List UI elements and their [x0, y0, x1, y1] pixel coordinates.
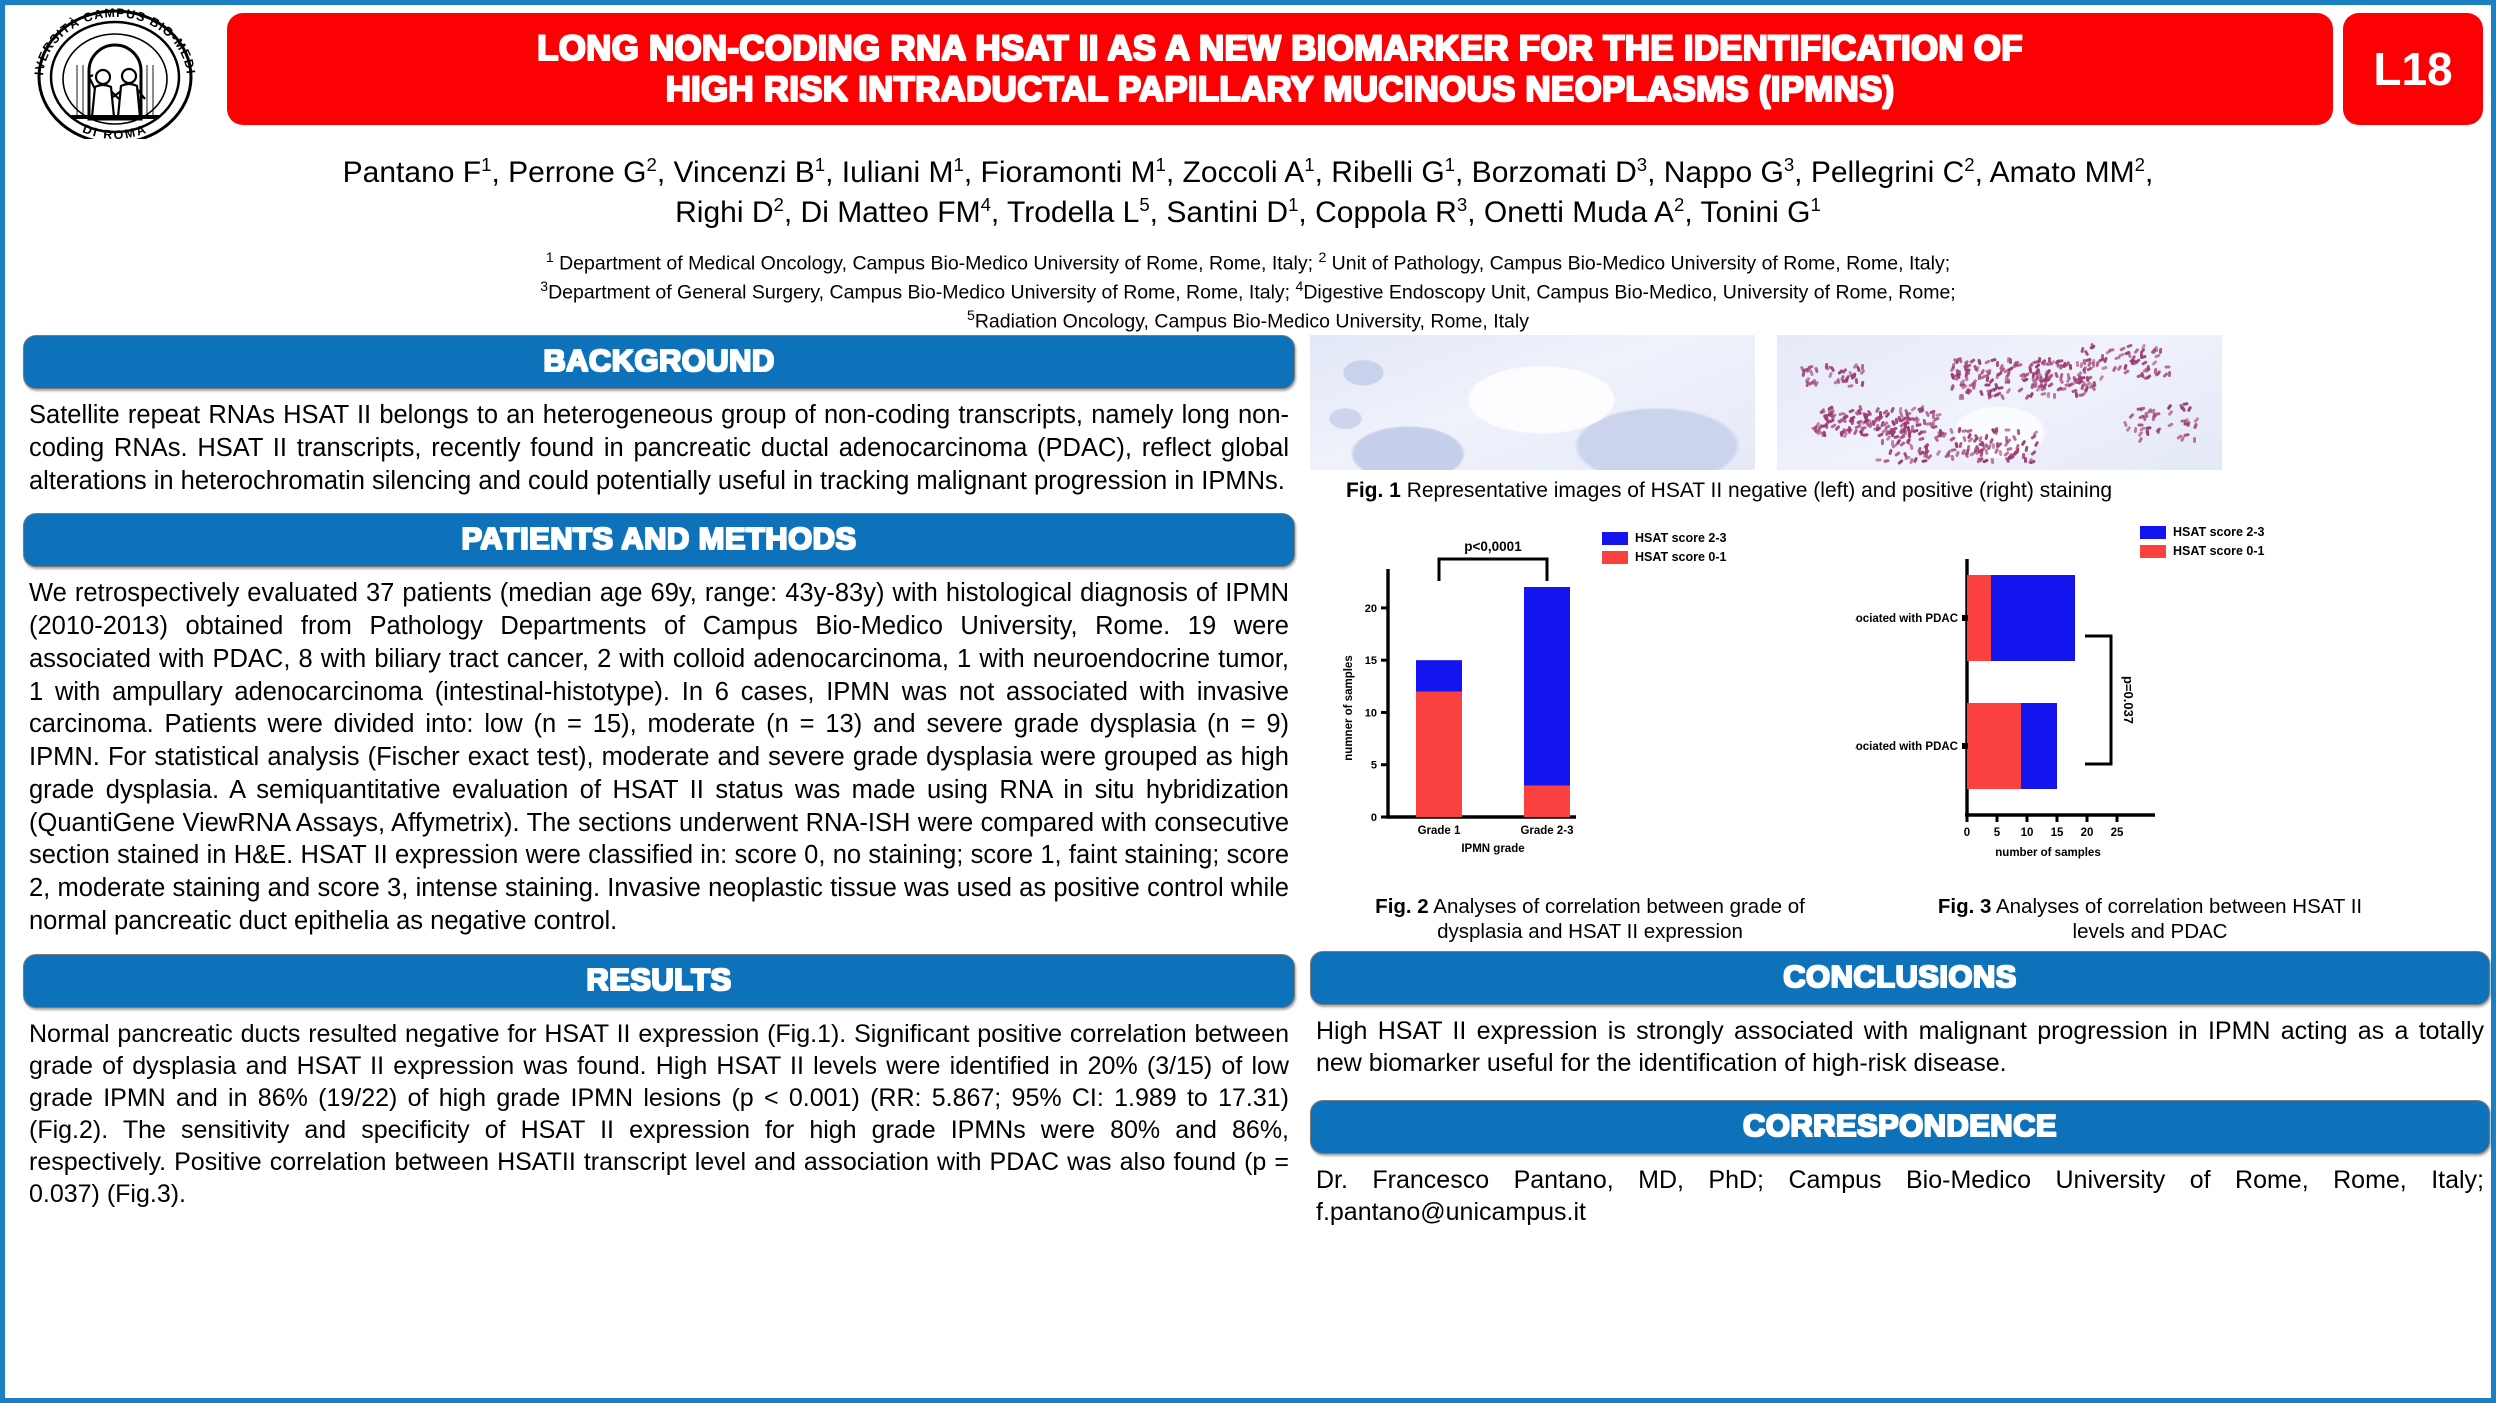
- fig3-legend-label-high: HSAT score 2-3: [2173, 523, 2264, 542]
- right-column: Fig. 1 Representative images of HSAT II …: [1310, 335, 2490, 1229]
- author-list: Pantano F1, Perrone G2, Vincenzi B1, Iul…: [5, 153, 2491, 232]
- poster-root: UNIVERSITÀ CAMPUS BIO-MEDICO DI ROMA LON…: [0, 0, 2496, 1403]
- fig2-legend-item-low: HSAT score 0-1: [1602, 548, 1726, 567]
- fig2-xtick-1: Grade 2-3: [1520, 825, 1573, 837]
- fig3-legend-label-low: HSAT score 0-1: [2173, 542, 2264, 561]
- fig2-bar-high-0: [1416, 660, 1462, 691]
- fig3-plot: 0510152025Associated with PDACNot Associ…: [1855, 517, 2490, 892]
- stain-dots: [1777, 335, 2222, 470]
- fig3-xtick-0: 0: [1964, 827, 1970, 839]
- section-text-background: Satellite repeat RNAs HSAT II belongs to…: [23, 389, 1295, 497]
- fig3-bar-high-0: [1991, 575, 2075, 661]
- fig2-plot: 05101520Grade 1Grade 2-3IPMN gradenumner…: [1310, 517, 1855, 892]
- chart-captions-row: Fig. 2 Analyses of correlation between g…: [1310, 894, 2490, 945]
- fig2-ytick-5: 5: [1371, 760, 1377, 772]
- fig3-ytick-1: Not Associated with PDAC: [1855, 741, 1958, 753]
- fig3-ytick-0: Associated with PDAC: [1855, 613, 1958, 625]
- section-header-results: RESULTS: [23, 954, 1295, 1008]
- fig3-caption-line-2: levels and PDAC: [2073, 920, 2228, 943]
- fig2-bar-low-1: [1524, 786, 1570, 817]
- fig2-legend-item-high: HSAT score 2-3: [1602, 529, 1726, 548]
- section-header-conclusions: CONCLUSIONS: [1310, 951, 2490, 1005]
- section-header-background: BACKGROUND: [23, 335, 1295, 389]
- fig2-significance-bracket: [1439, 559, 1547, 581]
- author-line-2: Righi D2, Di Matteo FM4, Trodella L5, Sa…: [125, 193, 2371, 233]
- section-header-correspondence: CORRESPONDENCE: [1310, 1100, 2490, 1154]
- micrograph-negative: [1310, 335, 1755, 470]
- poster-title-bar: LONG NON-CODING RNA HSAT II AS A NEW BIO…: [227, 13, 2333, 125]
- fig2-xtick-0: Grade 1: [1418, 825, 1461, 837]
- fig3-significance-bracket: [2085, 636, 2111, 764]
- fig1-caption-text: Representative images of HSAT II negativ…: [1407, 479, 2112, 502]
- fig2-chart: HSAT score 2-3 HSAT score 0-1 05101520Gr…: [1310, 517, 1855, 892]
- fig3-bar-low-1: [1967, 703, 2021, 789]
- affiliation-line-3: 5Radiation Oncology, Campus Bio-Medico U…: [135, 306, 2361, 335]
- fig3-legend-swatch-high: [2140, 526, 2166, 539]
- section-text-correspondence: Dr. Francesco Pantano, MD, PhD; Campus B…: [1310, 1154, 2490, 1229]
- fig2-label: Fig. 2: [1375, 895, 1429, 918]
- left-column: BACKGROUND Satellite repeat RNAs HSAT II…: [23, 335, 1295, 1210]
- poster-title-line-2: HIGH RISK INTRADUCTAL PAPILLARY MUCINOUS…: [666, 70, 1895, 109]
- fig3-xtick-5: 5: [1994, 827, 2001, 839]
- fig3-xtick-25: 25: [2111, 827, 2124, 839]
- fig2-legend-label-high: HSAT score 2-3: [1635, 529, 1726, 548]
- fig2-xlabel: IPMN grade: [1461, 843, 1524, 855]
- fig3-legend-swatch-low: [2140, 545, 2166, 558]
- fig2-legend-label-low: HSAT score 0-1: [1635, 548, 1726, 567]
- fig3-chart: HSAT score 2-3 HSAT score 0-1 0510152025…: [1855, 517, 2490, 892]
- poster-header: UNIVERSITÀ CAMPUS BIO-MEDICO DI ROMA LON…: [5, 5, 2491, 145]
- fig3-legend: HSAT score 2-3 HSAT score 0-1: [2140, 523, 2264, 561]
- fig2-ytick-10: 10: [1365, 707, 1377, 719]
- author-line-1: Pantano F1, Perrone G2, Vincenzi B1, Iul…: [125, 153, 2371, 193]
- fig2-caption-line-2: dysplasia and HSAT II expression: [1437, 920, 1743, 943]
- fig3-pvalue: p=0.037: [2121, 676, 2136, 724]
- fig3-label: Fig. 3: [1938, 895, 1992, 918]
- session-badge: L18: [2343, 13, 2483, 125]
- fig3-bar-low-0: [1967, 575, 1991, 661]
- fig2-pvalue: p<0,0001: [1464, 539, 1522, 554]
- fig2-ytick-0: 0: [1371, 812, 1377, 824]
- fig1-caption: Fig. 1 Representative images of HSAT II …: [1310, 479, 2490, 503]
- fig3-xtick-10: 10: [2021, 827, 2034, 839]
- fig2-legend-swatch-high: [1602, 532, 1628, 545]
- fig3-caption: Fig. 3 Analyses of correlation between H…: [1870, 894, 2430, 945]
- fig2-legend-swatch-low: [1602, 551, 1628, 564]
- section-text-results: Normal pancreatic ducts resulted negativ…: [23, 1008, 1295, 1211]
- figures-charts-row: HSAT score 2-3 HSAT score 0-1 05101520Gr…: [1310, 517, 2490, 892]
- section-text-patients-methods: We retrospectively evaluated 37 patients…: [23, 567, 1295, 937]
- fig1-label: Fig. 1: [1346, 479, 1401, 502]
- affiliations: 1 Department of Medical Oncology, Campus…: [5, 248, 2491, 335]
- affiliation-line-1: 1 Department of Medical Oncology, Campus…: [135, 248, 2361, 277]
- micrograph-positive: [1777, 335, 2222, 470]
- section-text-conclusions: High HSAT II expression is strongly asso…: [1310, 1005, 2490, 1080]
- fig2-bar-high-1: [1524, 587, 1570, 786]
- fig2-ytick-20: 20: [1365, 603, 1377, 615]
- poster-title-line-1: LONG NON-CODING RNA HSAT II AS A NEW BIO…: [537, 29, 2023, 68]
- fig2-ytick-15: 15: [1365, 655, 1377, 667]
- fig3-bar-high-1: [2021, 703, 2057, 789]
- fig2-caption: Fig. 2 Analyses of correlation between g…: [1310, 894, 1870, 945]
- university-logo: UNIVERSITÀ CAMPUS BIO-MEDICO DI ROMA: [15, 7, 215, 139]
- fig2-bar-low-0: [1416, 692, 1462, 817]
- fig2-ylabel: numner of samples: [1343, 655, 1355, 760]
- fig3-xtick-15: 15: [2051, 827, 2064, 839]
- affiliation-line-2: 3Department of General Surgery, Campus B…: [135, 277, 2361, 306]
- poster-body: BACKGROUND Satellite repeat RNAs HSAT II…: [5, 335, 2491, 1398]
- fig1-images: [1310, 335, 2490, 470]
- fig3-legend-item-low: HSAT score 0-1: [2140, 542, 2264, 561]
- section-header-patients-methods: PATIENTS AND METHODS: [23, 513, 1295, 567]
- fig3-xlabel: number of samples: [1995, 847, 2100, 859]
- fig2-legend: HSAT score 2-3 HSAT score 0-1: [1602, 529, 1726, 567]
- fig3-legend-item-high: HSAT score 2-3: [2140, 523, 2264, 542]
- fig3-xtick-20: 20: [2081, 827, 2094, 839]
- fig2-caption-line-1: Analyses of correlation between grade of: [1433, 895, 1805, 918]
- fig3-caption-line-1: Analyses of correlation between HSAT II: [1996, 895, 2362, 918]
